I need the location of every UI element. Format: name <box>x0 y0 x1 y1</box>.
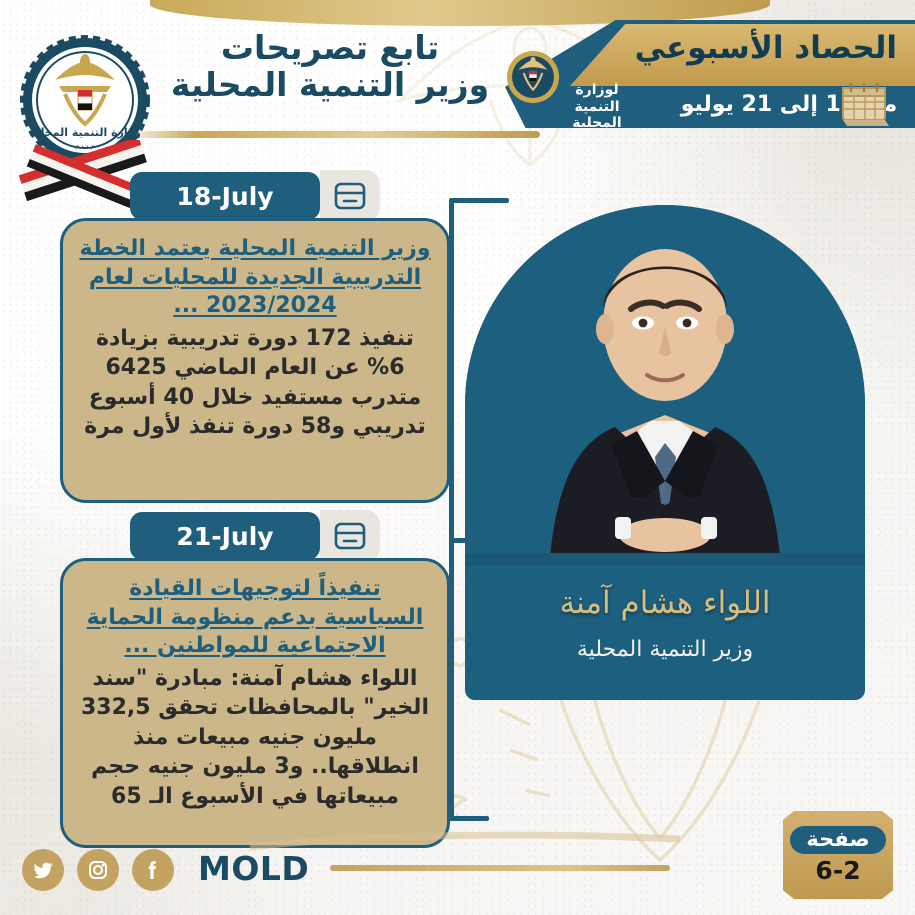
header-gold-underline <box>120 131 540 138</box>
entry-body-1: تنفيذ 172 دورة تدريبية بزيادة 6% عن العا… <box>79 324 431 442</box>
entry-body-2: اللواء هشام آمنة: مبادرة "سند الخير" بال… <box>79 664 431 811</box>
connector-stub-bottom <box>449 816 489 821</box>
facebook-glyph <box>141 858 165 882</box>
poster-footer: MOLD صفحة 6-2 <box>0 825 915 915</box>
twitter-icon[interactable] <box>22 849 64 891</box>
brand-name: MOLD <box>198 849 309 888</box>
instagram-icon[interactable] <box>77 849 119 891</box>
banner-title: الحصاد الأسبوعي <box>577 30 897 66</box>
footer-gold-rule <box>330 865 670 871</box>
calendar-icon <box>333 181 367 211</box>
poster-header: وزارة التنمية المحلية م ت م تابع تصر <box>0 0 915 150</box>
desk-calendar-icon <box>837 82 893 128</box>
entry-headline-2: تنفيذاً لتوجيهات القيادة السياسية بدعم م… <box>79 575 431 661</box>
date-label-1: 18-July <box>130 172 320 220</box>
entry-headline-1: وزير التنمية المحلية يعتمد الخطة التدريب… <box>79 235 431 321</box>
calendar-icon <box>333 521 367 551</box>
page-number: 6-2 <box>815 856 860 885</box>
minister-role: وزير التنمية المحلية <box>465 637 865 662</box>
page-title-line-2: وزير التنمية المحلية <box>130 67 530 104</box>
entry-card-1: وزير التنمية المحلية يعتمد الخطة التدريب… <box>60 218 450 503</box>
page-title-line-1: تابع تصريحات <box>130 30 530 67</box>
entry-card-2: تنفيذاً لتوجيهات القيادة السياسية بدعم م… <box>60 558 450 848</box>
svg-text:وزارة التنمية المحلية: وزارة التنمية المحلية <box>29 126 141 139</box>
egypt-eagle-seal-icon <box>506 50 560 104</box>
banner-subtitle-line-3: المحلية <box>527 115 667 132</box>
weekly-banner: الحصاد الأسبوعي لوزارة التنمية المحلية م… <box>505 20 915 130</box>
minister-photo-panel: اللواء هشام آمنة وزير التنمية المحلية <box>465 205 865 700</box>
connector-stub-top <box>449 198 509 203</box>
calendar-icon-box-1[interactable] <box>320 170 380 222</box>
twitter-glyph <box>31 858 55 882</box>
social-links <box>22 849 174 891</box>
page-title: تابع تصريحات وزير التنمية المحلية <box>130 30 530 104</box>
page-label: صفحة <box>790 826 885 854</box>
facebook-icon[interactable] <box>132 849 174 891</box>
connector-stub-middle <box>449 538 509 543</box>
date-badge-2[interactable]: 21-July <box>130 512 374 560</box>
footer-swoosh <box>250 831 680 853</box>
instagram-glyph <box>86 858 110 882</box>
infographic-poster: جمهورية مصر <box>0 0 915 915</box>
date-label-2: 21-July <box>130 512 320 560</box>
minister-name: اللواء هشام آمنة <box>465 585 865 621</box>
page-badge: صفحة 6-2 <box>783 811 893 899</box>
calendar-icon-box-2[interactable] <box>320 510 380 562</box>
date-badge-1[interactable]: 18-July <box>130 172 374 220</box>
minister-portrait <box>465 205 865 565</box>
